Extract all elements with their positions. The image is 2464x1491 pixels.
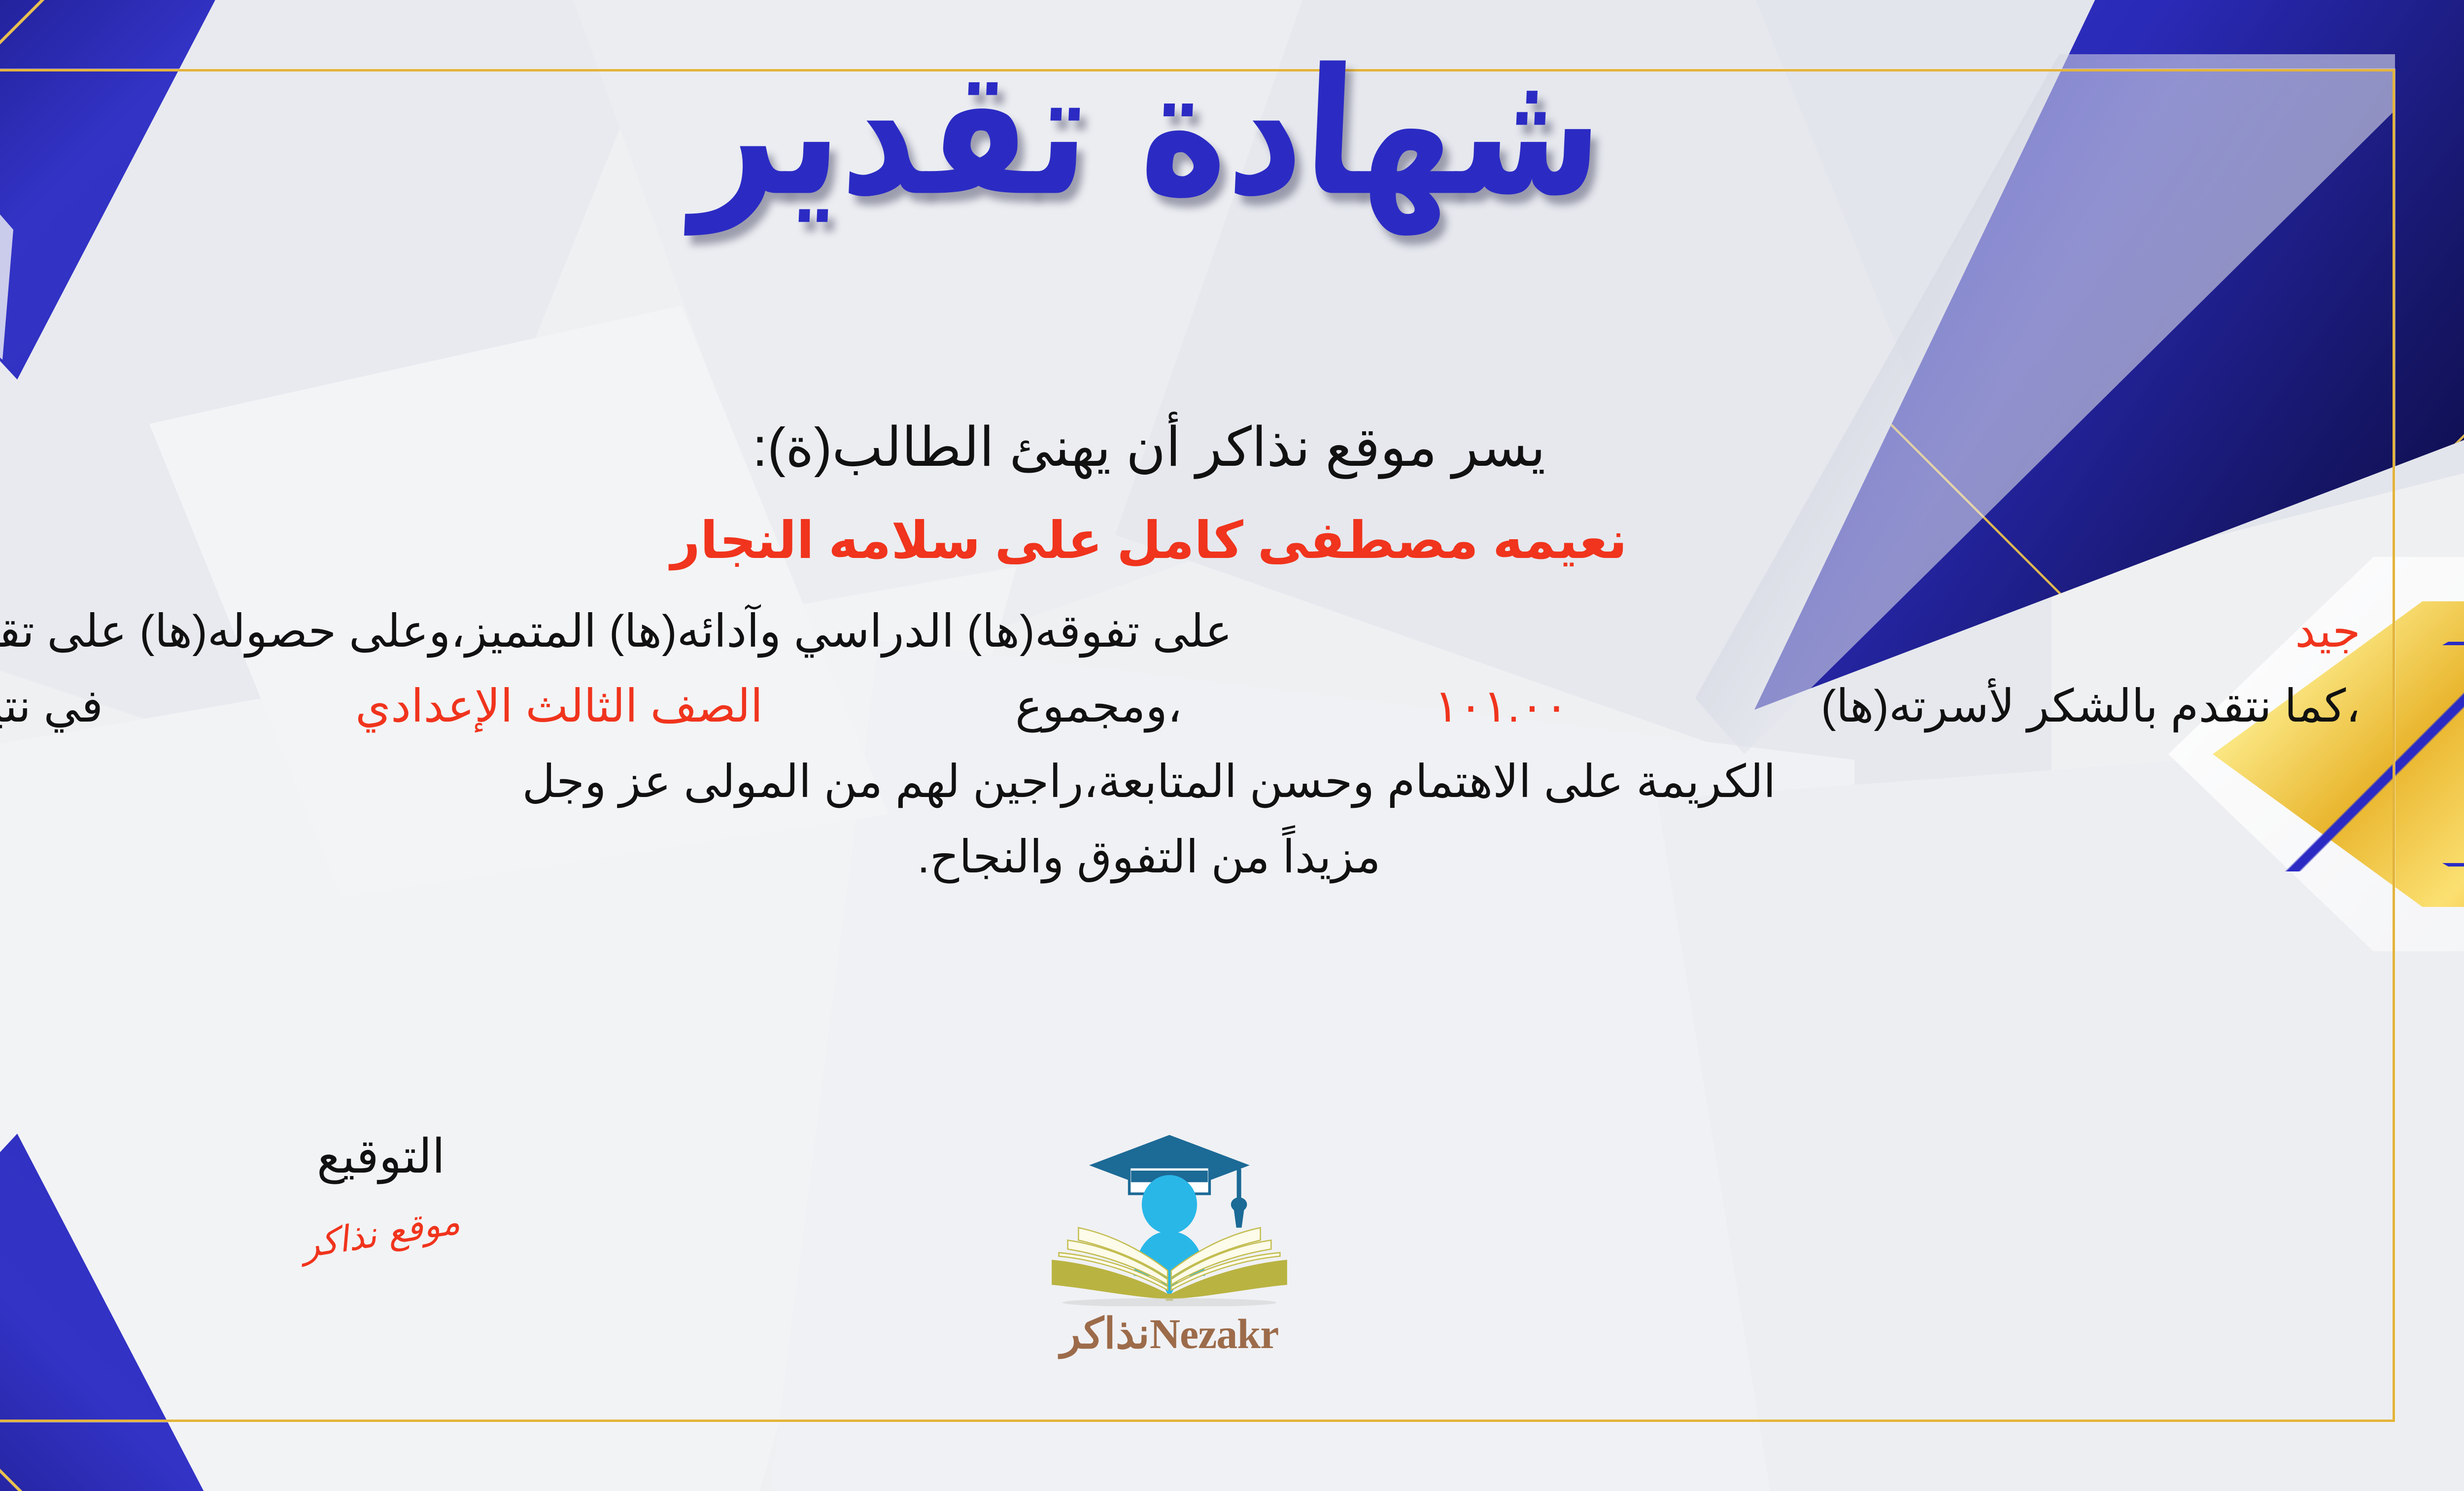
total-value: ١٠١.٠٠ [1435,674,1569,739]
certificate-page: شهادة تقدير يسر موقع نذاكر أن يهنئ الطال… [0,0,2464,1491]
page-title: شهادة تقدير [691,46,1607,220]
body-line-result-label: في نتيجة [0,674,103,739]
graduate-book-icon [982,1119,1357,1306]
body-line-achievement-text: على تفوقه(ها) الدراسي وآدائه(ها) المتميز… [0,599,1232,664]
body-line-total-label: ،ومجموع [1015,674,1182,739]
body-line-closing: مزيداً من التفوق والنجاح. [0,825,2361,890]
certificate-title-area: شهادة تقدير [0,59,2464,266]
body-line-achievement: جيد على تفوقه(ها) الدراسي وآدائه(ها) الم… [0,599,2361,664]
stage-value: الصف الثالث الإعدادي [355,674,763,739]
logo-wordmark: Nezakrنذاكر [982,1309,1357,1358]
certificate-body: يسر موقع نذاكر أن يهنئ الطالب(ة): نعيمه … [0,409,2361,889]
brand-logo: Nezakrنذاكر [982,1119,1357,1358]
body-line-family: الكريمة على الاهتمام وحسن المتابعة،راجين… [0,750,2361,814]
signature-block: التوقيع موقع نذاكر [208,1129,553,1254]
graduate-book-svg [982,1119,1357,1306]
grade-value: جيد [2295,599,2361,664]
intro-line: يسر موقع نذاكر أن يهنئ الطالب(ة): [0,409,2361,486]
body-line-stage-total: ،كما نتقدم بالشكر لأسرته(ها) ١٠١.٠٠ ،ومج… [0,674,2361,739]
body-line-thanks-text: ،كما نتقدم بالشكر لأسرته(ها) [1821,674,2361,739]
student-name: نعيمه مصطفى كامل على سلامه النجار [0,505,2361,578]
signature-script: موقع نذاكر [299,1200,463,1266]
signature-label: التوقيع [208,1129,553,1184]
